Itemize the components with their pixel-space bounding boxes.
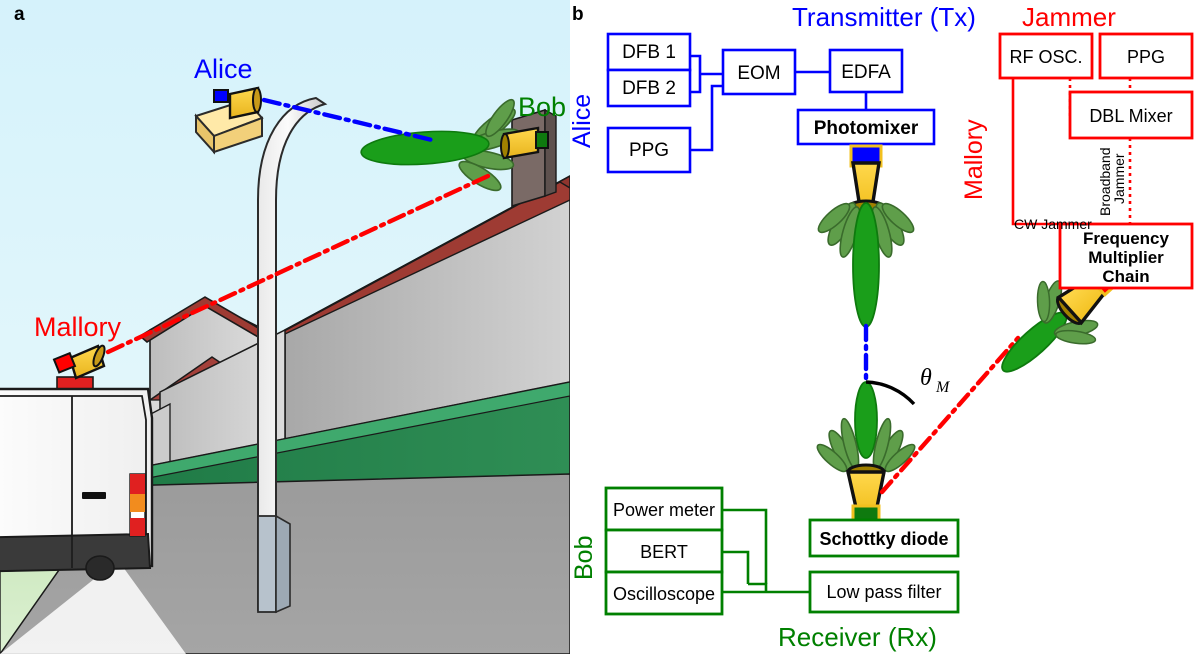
block-schottky-diode-label: Schottky diode [819, 529, 948, 549]
rx-boxes: Power meter BERT Oscilloscope Schottky d… [606, 488, 958, 614]
block-dfb2-label: DFB 2 [622, 78, 676, 99]
block-eom-label: EOM [737, 63, 780, 84]
block-power-meter-label: Power meter [613, 500, 715, 520]
bob-horn-aperture [501, 134, 509, 158]
bob-feed [536, 132, 548, 148]
theta-subscript: M [935, 379, 951, 396]
block-ppg-jammer-label: PPG [1127, 47, 1165, 67]
jammer-title: Jammer [1022, 2, 1116, 32]
van-taillight-right [130, 474, 145, 536]
jammer-main-lobe [995, 305, 1073, 379]
van-wheel [86, 556, 114, 580]
panel-a-letter: a [14, 4, 25, 26]
van-bumper [0, 534, 150, 572]
block-rf-osc-label: RF OSC. [1009, 47, 1082, 67]
mallory-side-label: Mallory [960, 119, 988, 200]
rx-antenna-assembly [814, 382, 918, 526]
broadband-jammer-label-l2: Jammer [1111, 153, 1127, 204]
panel-a-street-scene: Alice Bob Mallory a [0, 0, 570, 654]
alice-feed [214, 90, 228, 102]
block-ppg-tx-label: PPG [629, 140, 669, 161]
alice-side-label: Alice [570, 94, 596, 148]
block-diagram-svg: Transmitter (Tx) Jammer Receiver (Rx) Al… [570, 0, 1200, 654]
receiver-title: Receiver (Rx) [778, 622, 937, 652]
block-bert-label: BERT [640, 542, 688, 562]
bob-side-label: Bob [570, 536, 598, 580]
cw-jammer-label: CW Jammer [1014, 216, 1092, 232]
tx-antenna-assembly [814, 146, 917, 327]
tx-main-lobe [853, 203, 879, 327]
block-edfa-label: EDFA [841, 62, 891, 83]
mallory-van [0, 377, 152, 580]
theta-symbol: θ [920, 365, 932, 391]
figure-root: Alice Bob Mallory a Transmitter (Tx) Jam… [0, 0, 1200, 654]
van-handle [82, 492, 106, 499]
rx-main-lobe [855, 382, 877, 458]
block-photomixer-label: Photomixer [814, 118, 919, 139]
block-oscilloscope-label: Oscilloscope [613, 584, 715, 604]
lamp-base [258, 516, 276, 612]
link-jammer-rx [882, 338, 1018, 492]
tx-boxes: DFB 1 DFB 2 PPG EOM EDFA Photomixer [608, 34, 934, 172]
block-fmc-label-l1: Frequency [1083, 229, 1170, 248]
panel-b-letter: b [572, 4, 584, 26]
label-mallory: Mallory [34, 312, 122, 342]
block-low-pass-filter-label: Low pass filter [826, 582, 941, 602]
panel-b-block-diagram: Transmitter (Tx) Jammer Receiver (Rx) Al… [570, 0, 1200, 654]
transmitter-title: Transmitter (Tx) [792, 2, 976, 32]
block-dfb1-label: DFB 1 [622, 42, 676, 63]
block-dbl-mixer-label: DBL Mixer [1089, 106, 1172, 126]
label-alice: Alice [194, 54, 253, 84]
block-fmc-label-l3: Chain [1102, 267, 1149, 286]
label-bob: Bob [518, 92, 566, 122]
street-scene-svg: Alice Bob Mallory [0, 0, 570, 654]
alice-horn-aperture [253, 88, 261, 112]
block-fmc-label-l2: Multiplier [1088, 248, 1164, 267]
